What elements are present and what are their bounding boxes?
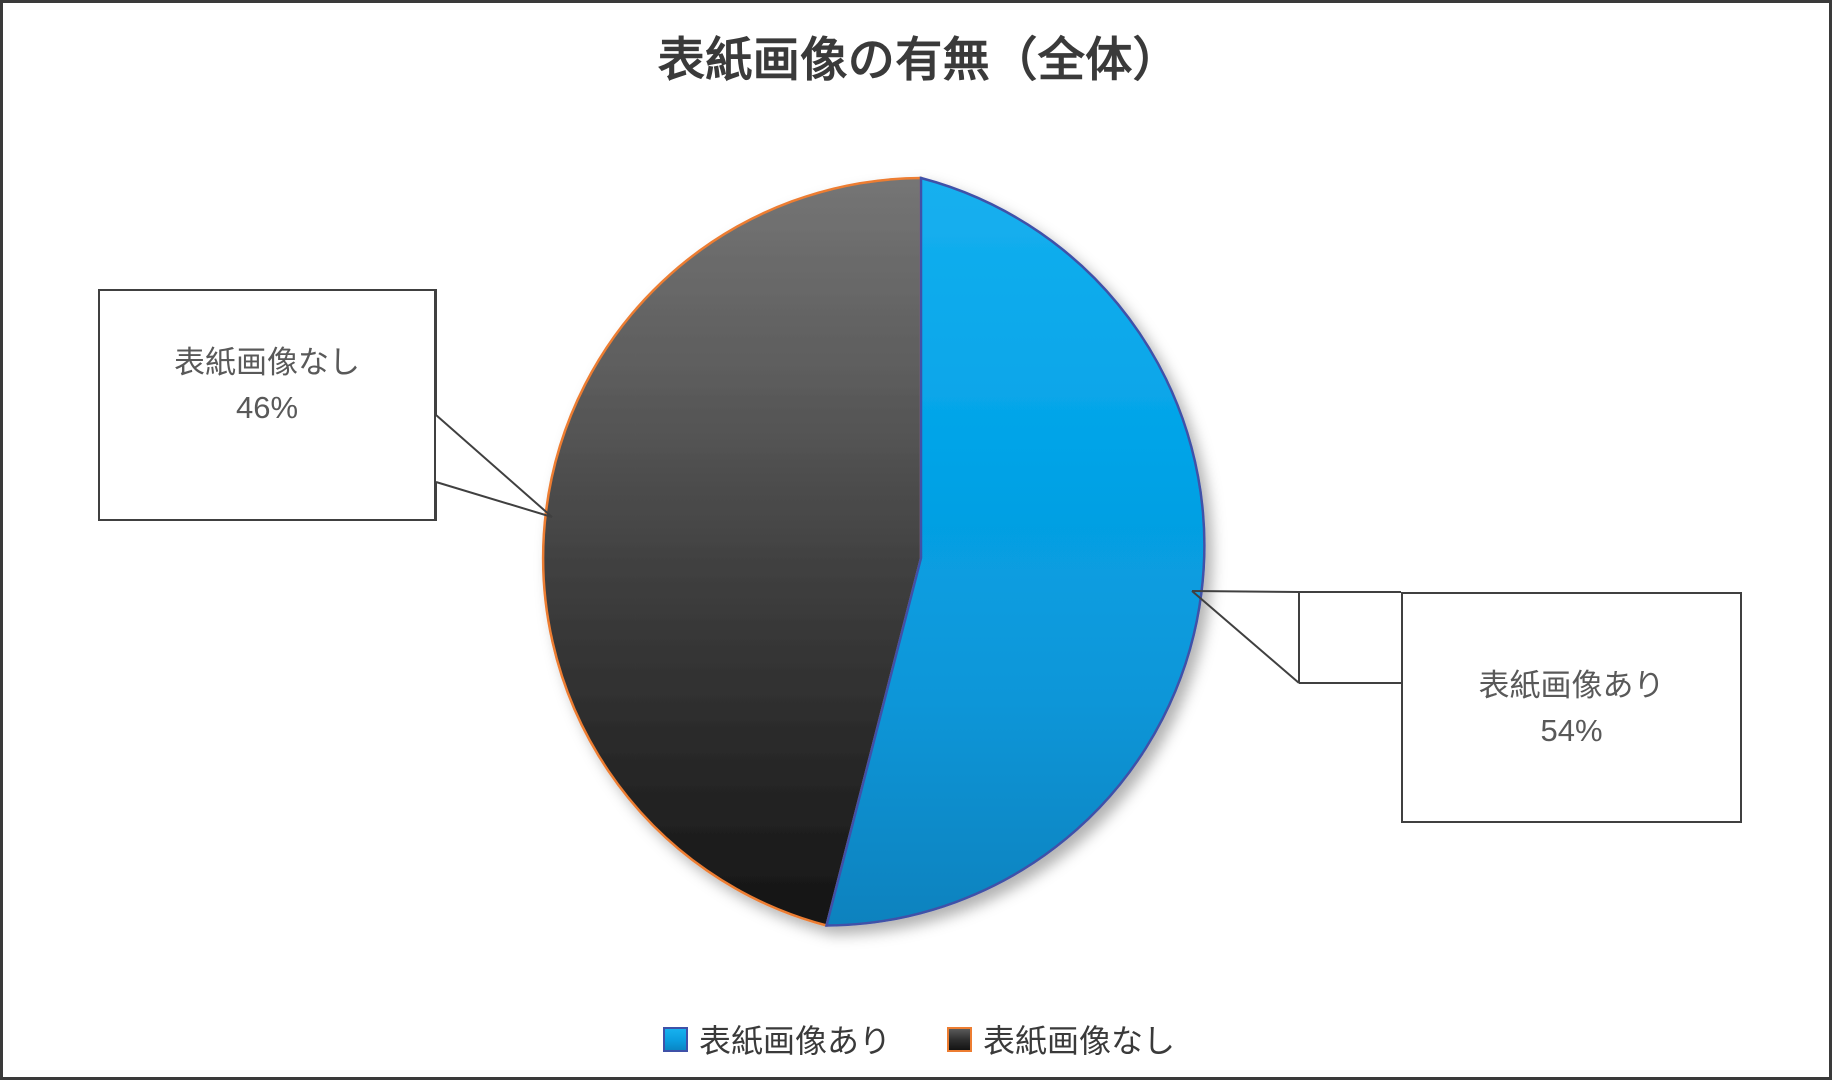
callout-no-cover-image[interactable]: 表紙画像なし 46%	[98, 289, 436, 521]
chart-legend: 表紙画像あり 表紙画像なし	[3, 1016, 1832, 1062]
callout-right-percent: 54%	[1540, 709, 1602, 754]
legend-item-has-cover-image[interactable]: 表紙画像あり	[663, 1016, 891, 1062]
legend-item-no-cover-image[interactable]: 表紙画像なし	[947, 1016, 1175, 1062]
leader-line-right-pointers	[1192, 591, 1301, 683]
legend-swatch-icon-blue	[663, 1027, 688, 1052]
callout-left-label: 表紙画像なし	[174, 341, 360, 386]
legend-swatch-icon-dark	[947, 1027, 972, 1052]
pie-slices-group	[543, 178, 1204, 926]
callout-left-percent: 46%	[236, 386, 298, 431]
leader-line-left	[436, 289, 552, 521]
pie-chart-graphic	[3, 3, 1832, 1080]
callout-has-cover-image[interactable]: 表紙画像あり 54%	[1401, 592, 1742, 823]
leader-line-right	[1299, 592, 1401, 683]
callout-right-label: 表紙画像あり	[1479, 664, 1665, 709]
chart-frame: 表紙画像の有無（全体）	[0, 0, 1832, 1080]
legend-label-no-cover-image: 表紙画像なし	[983, 1016, 1175, 1062]
legend-label-has-cover-image: 表紙画像あり	[699, 1016, 891, 1062]
